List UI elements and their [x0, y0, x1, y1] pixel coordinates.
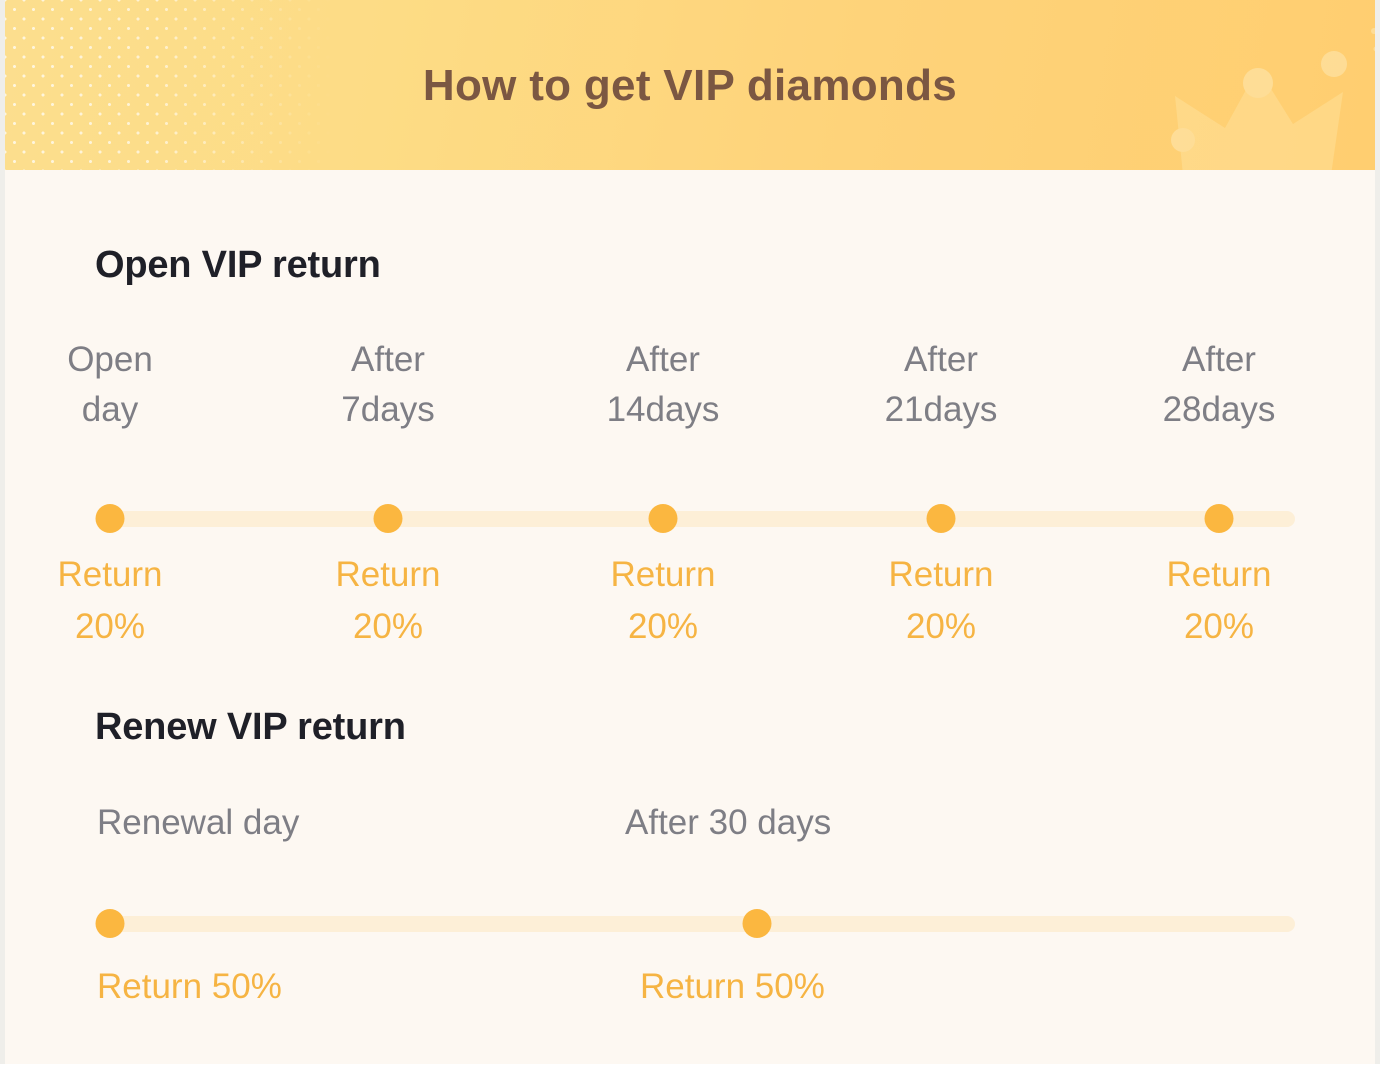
timeline-node-return: Return 50% [97, 961, 517, 1013]
timeline-node-return: Return 20% [0, 549, 240, 653]
timeline-node-return: Return 20% [1089, 549, 1349, 653]
timeline-node-dot-icon[interactable] [743, 909, 772, 938]
timeline-node-label: Open day [0, 335, 240, 435]
timeline-node-return: Return 20% [258, 549, 518, 653]
timeline-node-dot-icon[interactable] [1205, 504, 1234, 533]
section-title-open-vip-return: Open VIP return [95, 244, 381, 287]
timeline-node-label: After 30 days [625, 798, 1045, 848]
page-title: How to get VIP diamonds [5, 60, 1375, 112]
timeline-node-return: Return 20% [533, 549, 793, 653]
timeline-open-vip-return: Open day Return 20% After 7days Return 2… [5, 330, 1375, 630]
timeline-node-return: Return 20% [811, 549, 1071, 653]
card-header: How to get VIP diamonds [5, 0, 1375, 170]
timeline-node-return: Return 50% [640, 961, 1060, 1013]
timeline-track [97, 916, 1295, 932]
timeline-node-label: After 7days [258, 335, 518, 435]
section-title-renew-vip-return: Renew VIP return [95, 706, 406, 749]
timeline-node-label: After 21days [811, 335, 1071, 435]
timeline-node-dot-icon[interactable] [96, 909, 125, 938]
timeline-node-dot-icon[interactable] [374, 504, 403, 533]
card-body: Open VIP return Open day Return 20% Afte… [5, 170, 1375, 1064]
timeline-node-label: Renewal day [97, 798, 517, 848]
timeline-node-dot-icon[interactable] [649, 504, 678, 533]
timeline-node-dot-icon[interactable] [96, 504, 125, 533]
timeline-renew-vip-return: Renewal day Return 50% After 30 days Ret… [5, 798, 1375, 1064]
vip-info-card: How to get VIP diamonds Open VIP return … [0, 0, 1380, 1064]
timeline-node-label: After 14days [533, 335, 793, 435]
timeline-node-label: After 28days [1089, 335, 1349, 435]
timeline-track [97, 511, 1295, 527]
vip-diamonds-screen: How to get VIP diamonds Open VIP return … [0, 0, 1380, 1068]
timeline-node-dot-icon[interactable] [927, 504, 956, 533]
